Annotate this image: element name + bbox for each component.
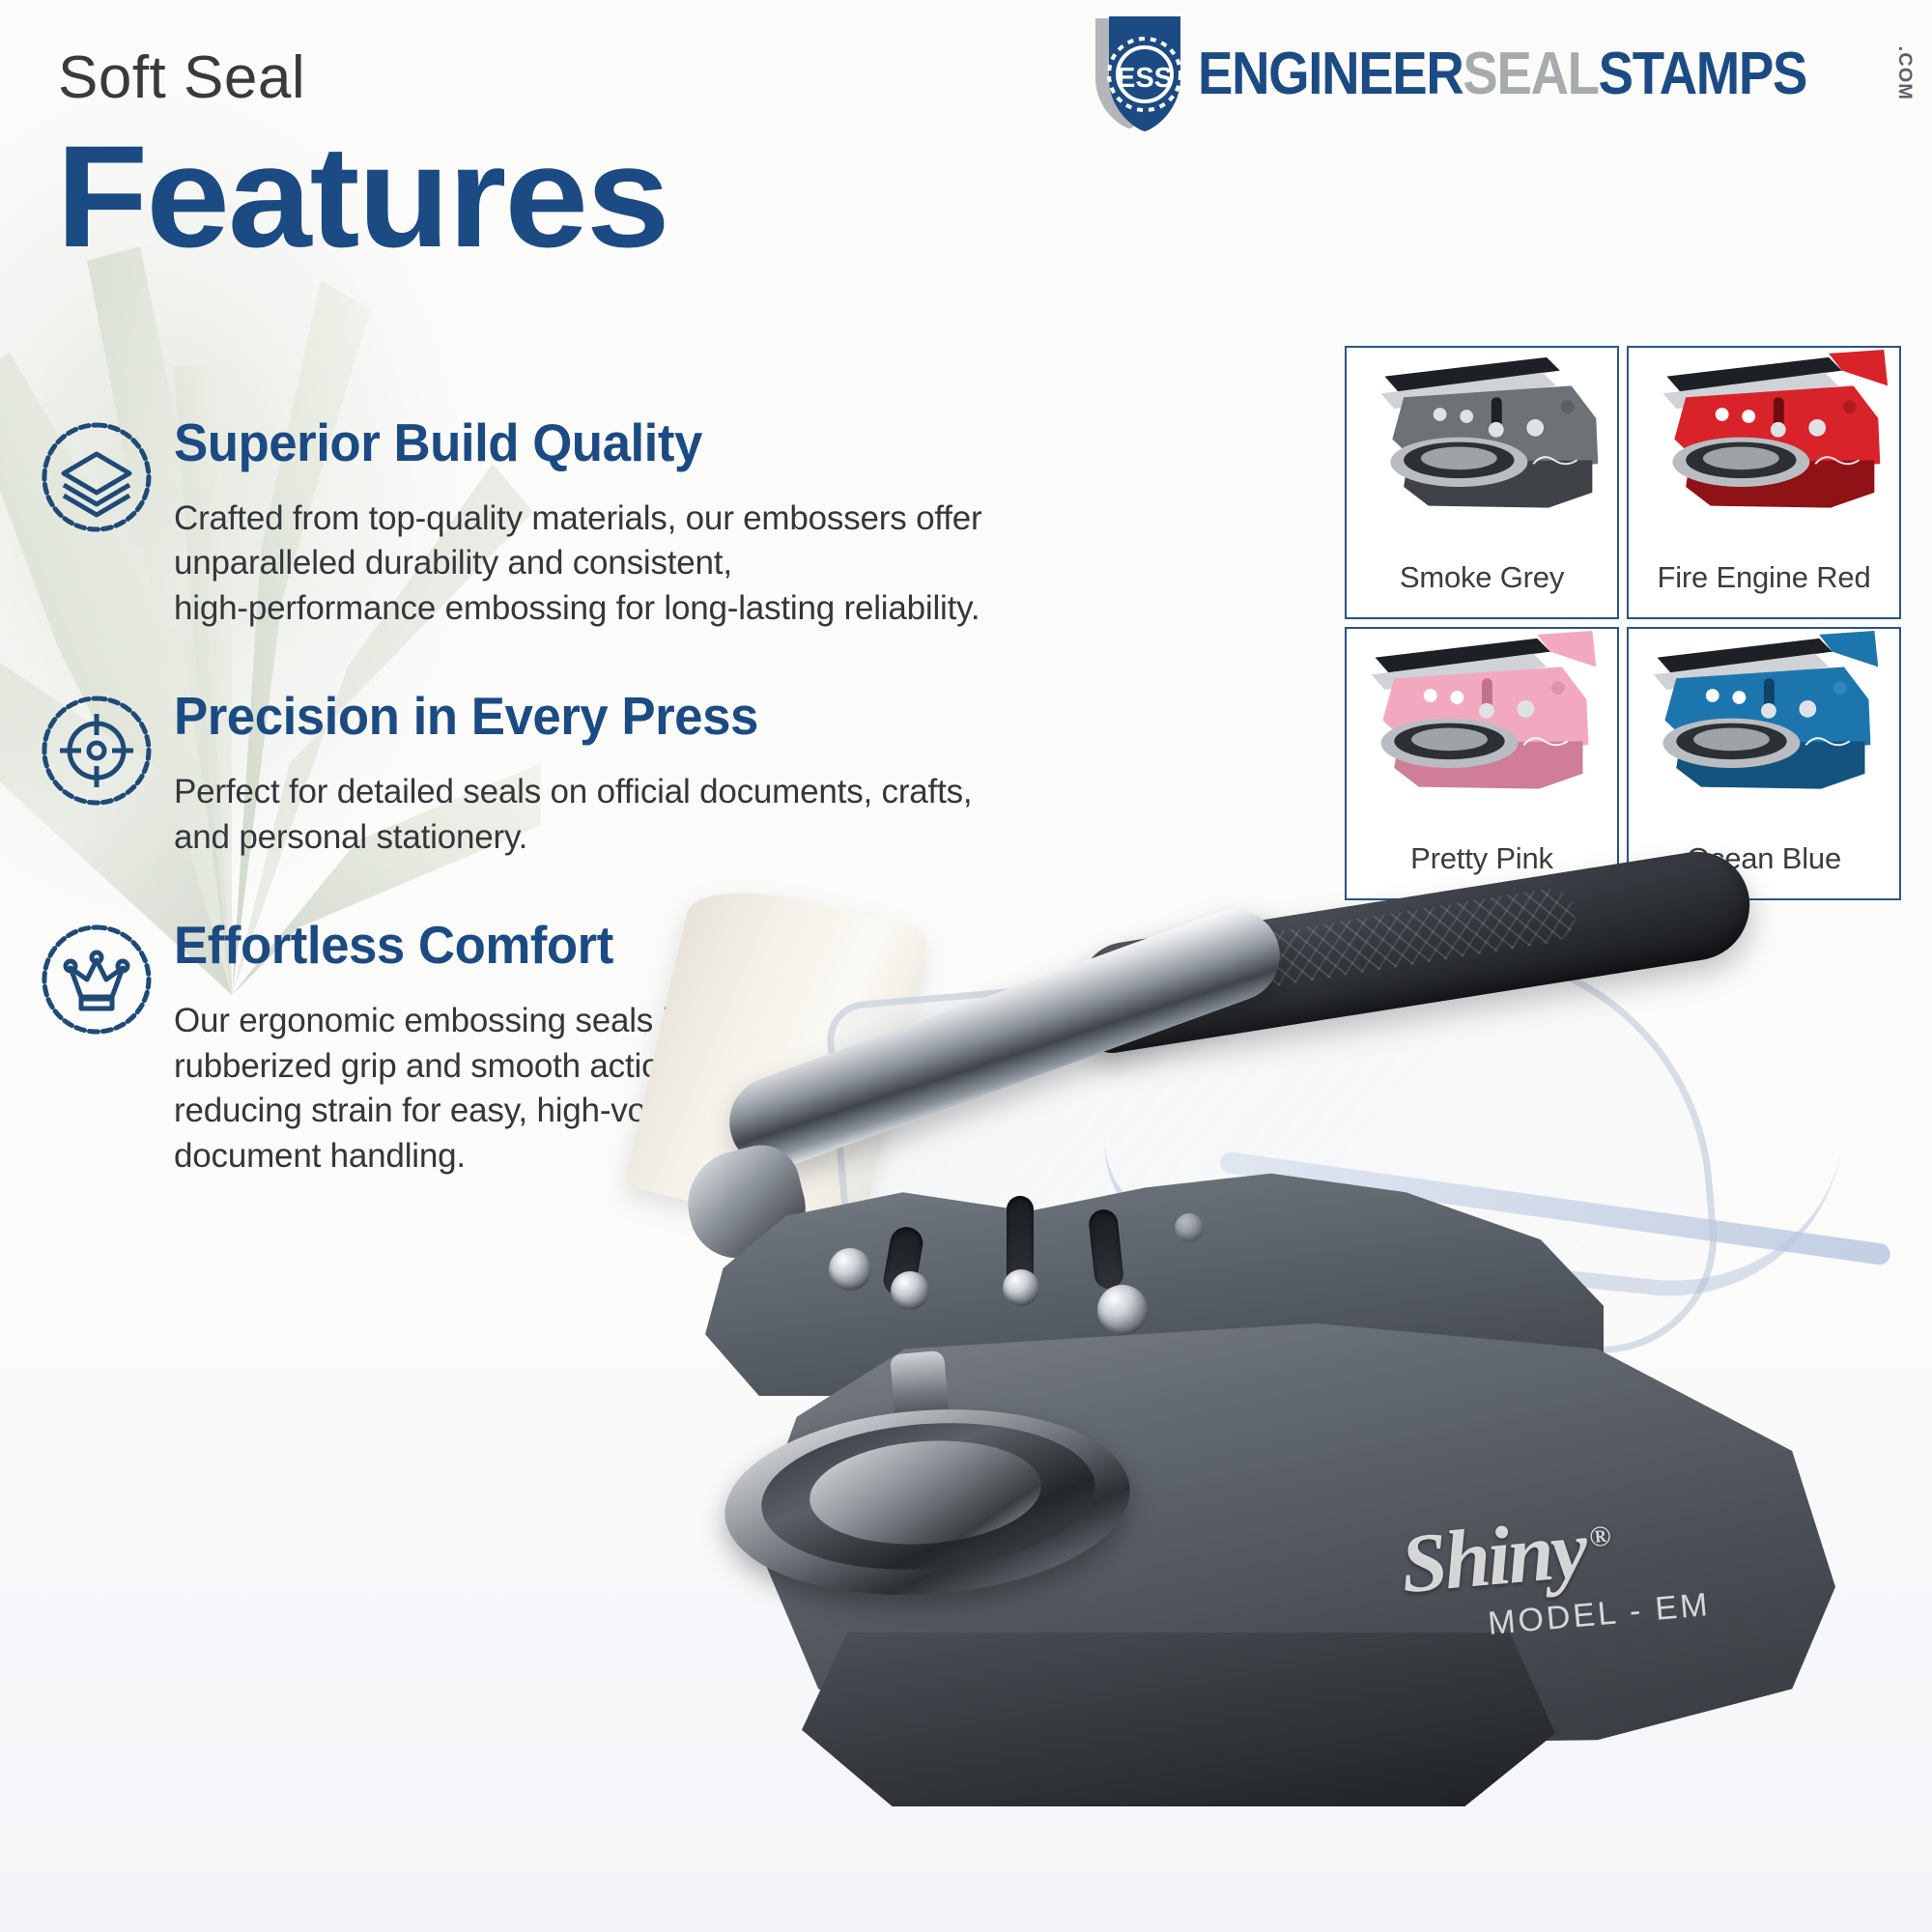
layers-icon bbox=[39, 415, 166, 540]
feature-title: Superior Build Quality bbox=[174, 415, 980, 471]
embosser-base-skirt bbox=[802, 1633, 1555, 1806]
logo-word-stamps: STAMPS bbox=[1599, 40, 1806, 108]
registered-trademark-symbol: ® bbox=[1588, 1520, 1609, 1554]
embosser-chrome-lever bbox=[717, 896, 1293, 1180]
feature-item-superior-build-quality: Superior Build Quality Crafted from top-… bbox=[39, 415, 1014, 631]
logo-wordmark: ENGINEER SEAL STAMPS bbox=[1198, 40, 1806, 108]
arm-rivet-3 bbox=[1003, 1269, 1039, 1306]
embosser-thumbnail-image bbox=[1629, 629, 1899, 818]
color-swatch-smoke-grey[interactable]: Smoke Grey bbox=[1345, 346, 1619, 619]
arm-rivet-2 bbox=[891, 1271, 929, 1310]
feature-line: Crafted from top-quality materials, our … bbox=[174, 497, 1014, 542]
feature-line: high-performance embossing for long-last… bbox=[174, 586, 1014, 632]
shiny-brand-mark: Shiny® bbox=[1397, 1498, 1613, 1612]
ess-monogram-text: ESS bbox=[1117, 63, 1173, 94]
embosser-thumbnail-image bbox=[1347, 629, 1617, 818]
arm-rivet-4 bbox=[1097, 1285, 1148, 1335]
page-kicker: Soft Seal bbox=[58, 46, 305, 109]
ess-shield-icon: ESS bbox=[1066, 14, 1192, 132]
arm-rivet-5 bbox=[1175, 1213, 1204, 1242]
logo-word-seal: SEAL bbox=[1463, 40, 1598, 108]
swatch-label: Fire Engine Red bbox=[1629, 537, 1899, 617]
arm-rivet-1 bbox=[829, 1248, 871, 1291]
logo-word-engineer: ENGINEER bbox=[1198, 40, 1463, 108]
hero-product-photo: Shiny® MODEL - EM bbox=[599, 811, 1932, 1932]
feature-line: unparalleled durability and consistent, bbox=[174, 541, 1014, 586]
page-title: Features bbox=[56, 124, 668, 269]
color-swatch-fire-engine-red[interactable]: Fire Engine Red bbox=[1627, 346, 1901, 619]
embosser-product: Shiny® MODEL - EM bbox=[638, 869, 1884, 1874]
feature-line: Perfect for detailed seals on official d… bbox=[174, 770, 1014, 815]
feature-body: Superior Build Quality Crafted from top-… bbox=[166, 415, 1014, 631]
feature-title: Precision in Every Press bbox=[174, 689, 980, 745]
embosser-thumbnail-image bbox=[1629, 348, 1899, 537]
feature-description: Crafted from top-quality materials, our … bbox=[174, 497, 1014, 632]
embosser-thumbnail-image bbox=[1347, 348, 1617, 537]
shiny-brand-text: Shiny bbox=[1397, 1502, 1588, 1610]
crown-icon bbox=[39, 918, 166, 1042]
infographic-page: Soft Seal Features ESS ENGINEER SEAL STA… bbox=[0, 0, 1932, 1932]
logo-tld: .COM bbox=[1893, 46, 1915, 100]
brand-logo[interactable]: ESS ENGINEER SEAL STAMPS .COM bbox=[1066, 15, 1915, 131]
crosshair-target-icon bbox=[39, 689, 166, 813]
swatch-label: Smoke Grey bbox=[1347, 537, 1617, 617]
